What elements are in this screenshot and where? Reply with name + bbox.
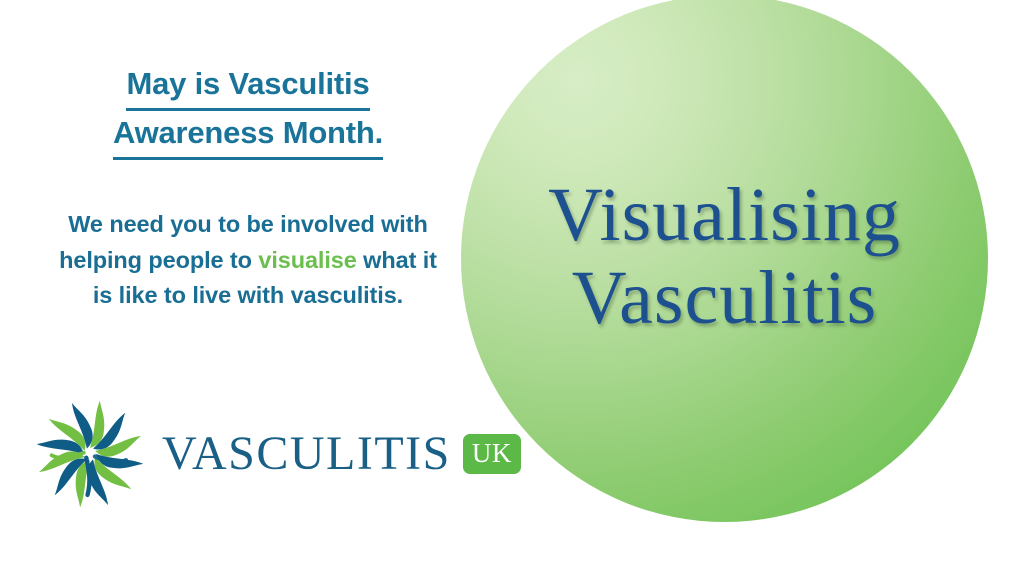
logo-wordmark: VASCULITIS (162, 430, 451, 478)
headline-line-2: Awareness Month. (113, 111, 383, 160)
vasculitis-uk-logo: VASCULITIS UK (28, 392, 521, 516)
circle-title-line-2: Vasculitis (572, 257, 878, 339)
green-circle-graphic: Visualising Vasculitis (461, 0, 988, 522)
body-copy: We need you to be involved with helping … (28, 207, 468, 314)
logo-uk-badge: UK (463, 434, 521, 474)
circle-title-line-1: Visualising (548, 174, 901, 256)
left-content-column: May is Vasculitis Awareness Month. We ne… (28, 62, 468, 314)
headline: May is Vasculitis Awareness Month. (28, 62, 468, 160)
headline-line-1: May is Vasculitis (126, 62, 369, 111)
poster-canvas: Visualising Vasculitis May is Vasculitis… (0, 0, 1024, 576)
body-copy-accent-word: visualise (258, 247, 356, 273)
starburst-icon (28, 392, 152, 516)
circle-title: Visualising Vasculitis (461, 0, 988, 522)
